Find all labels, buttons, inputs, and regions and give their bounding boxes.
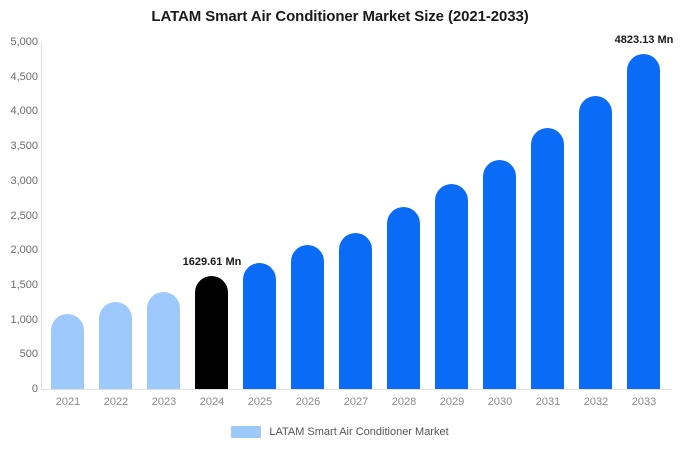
data-label-2033: 4823.13 Mn [604,34,680,46]
x-axis-tick-label: 2033 [622,396,666,408]
bar-slot [574,42,618,389]
x-axis-tick-label: 2021 [46,396,90,408]
bar-slot [382,42,426,389]
y-axis-tick-label: 5,000 [2,36,38,48]
y-axis-tick-label: 500 [2,348,38,360]
bar-2023[interactable] [147,292,180,389]
bar-2025[interactable] [243,263,276,389]
bar-slot [430,42,474,389]
bar-2027[interactable] [339,233,372,389]
y-axis-tick-label: 3,000 [2,175,38,187]
y-axis-tick-label: 3,500 [2,140,38,152]
bar-slot [238,42,282,389]
data-label-2024: 1629.61 Mn [172,256,252,268]
x-axis-tick-label: 2022 [94,396,138,408]
x-axis-tick-label: 2024 [190,396,234,408]
y-axis-tick-label: 4,000 [2,105,38,117]
bar-2026[interactable] [291,245,324,389]
bar-slot [622,42,666,389]
chart-title: LATAM Smart Air Conditioner Market Size … [0,8,680,25]
chart-legend: LATAM Smart Air Conditioner Market [0,426,680,438]
x-axis-tick-label: 2026 [286,396,330,408]
bar-slot [286,42,330,389]
x-axis-tick-label: 2028 [382,396,426,408]
x-axis-tick-label: 2027 [334,396,378,408]
bar-2031[interactable] [531,128,564,389]
x-axis-tick-label: 2025 [238,396,282,408]
y-axis-tick-label: 2,500 [2,210,38,222]
bar-2033[interactable] [627,54,660,389]
bar-slot [526,42,570,389]
x-axis-tick-label: 2030 [478,396,522,408]
x-axis-tick-label: 2029 [430,396,474,408]
x-axis-tick-label: 2032 [574,396,618,408]
y-axis-tick-label: 0 [2,383,38,395]
bar-2021[interactable] [51,314,84,389]
y-axis-tick-label: 4,500 [2,71,38,83]
y-axis-tick-labels: 5,0004,5004,0003,5003,0002,5002,0001,500… [0,0,38,450]
bar-slot [334,42,378,389]
bar-slot [142,42,186,389]
plot-area [41,42,672,389]
bar-slot [478,42,522,389]
bar-slot [46,42,90,389]
y-axis-tick-label: 1,000 [2,314,38,326]
y-axis-tick-label: 2,000 [2,244,38,256]
legend-color-swatch [231,426,261,438]
bar-2029[interactable] [435,184,468,389]
bar-slot [94,42,138,389]
bar-2024[interactable] [195,276,228,389]
bar-2032[interactable] [579,96,612,389]
x-axis-tick-label: 2023 [142,396,186,408]
x-axis-line [41,389,672,390]
y-axis-tick-label: 1,500 [2,279,38,291]
bar-2030[interactable] [483,160,516,389]
bar-2028[interactable] [387,207,420,389]
x-axis-tick-label: 2031 [526,396,570,408]
legend-item-label: LATAM Smart Air Conditioner Market [269,426,448,438]
bar-chart: LATAM Smart Air Conditioner Market Size … [0,0,680,450]
bar-2022[interactable] [99,302,132,389]
bar-slot [190,42,234,389]
